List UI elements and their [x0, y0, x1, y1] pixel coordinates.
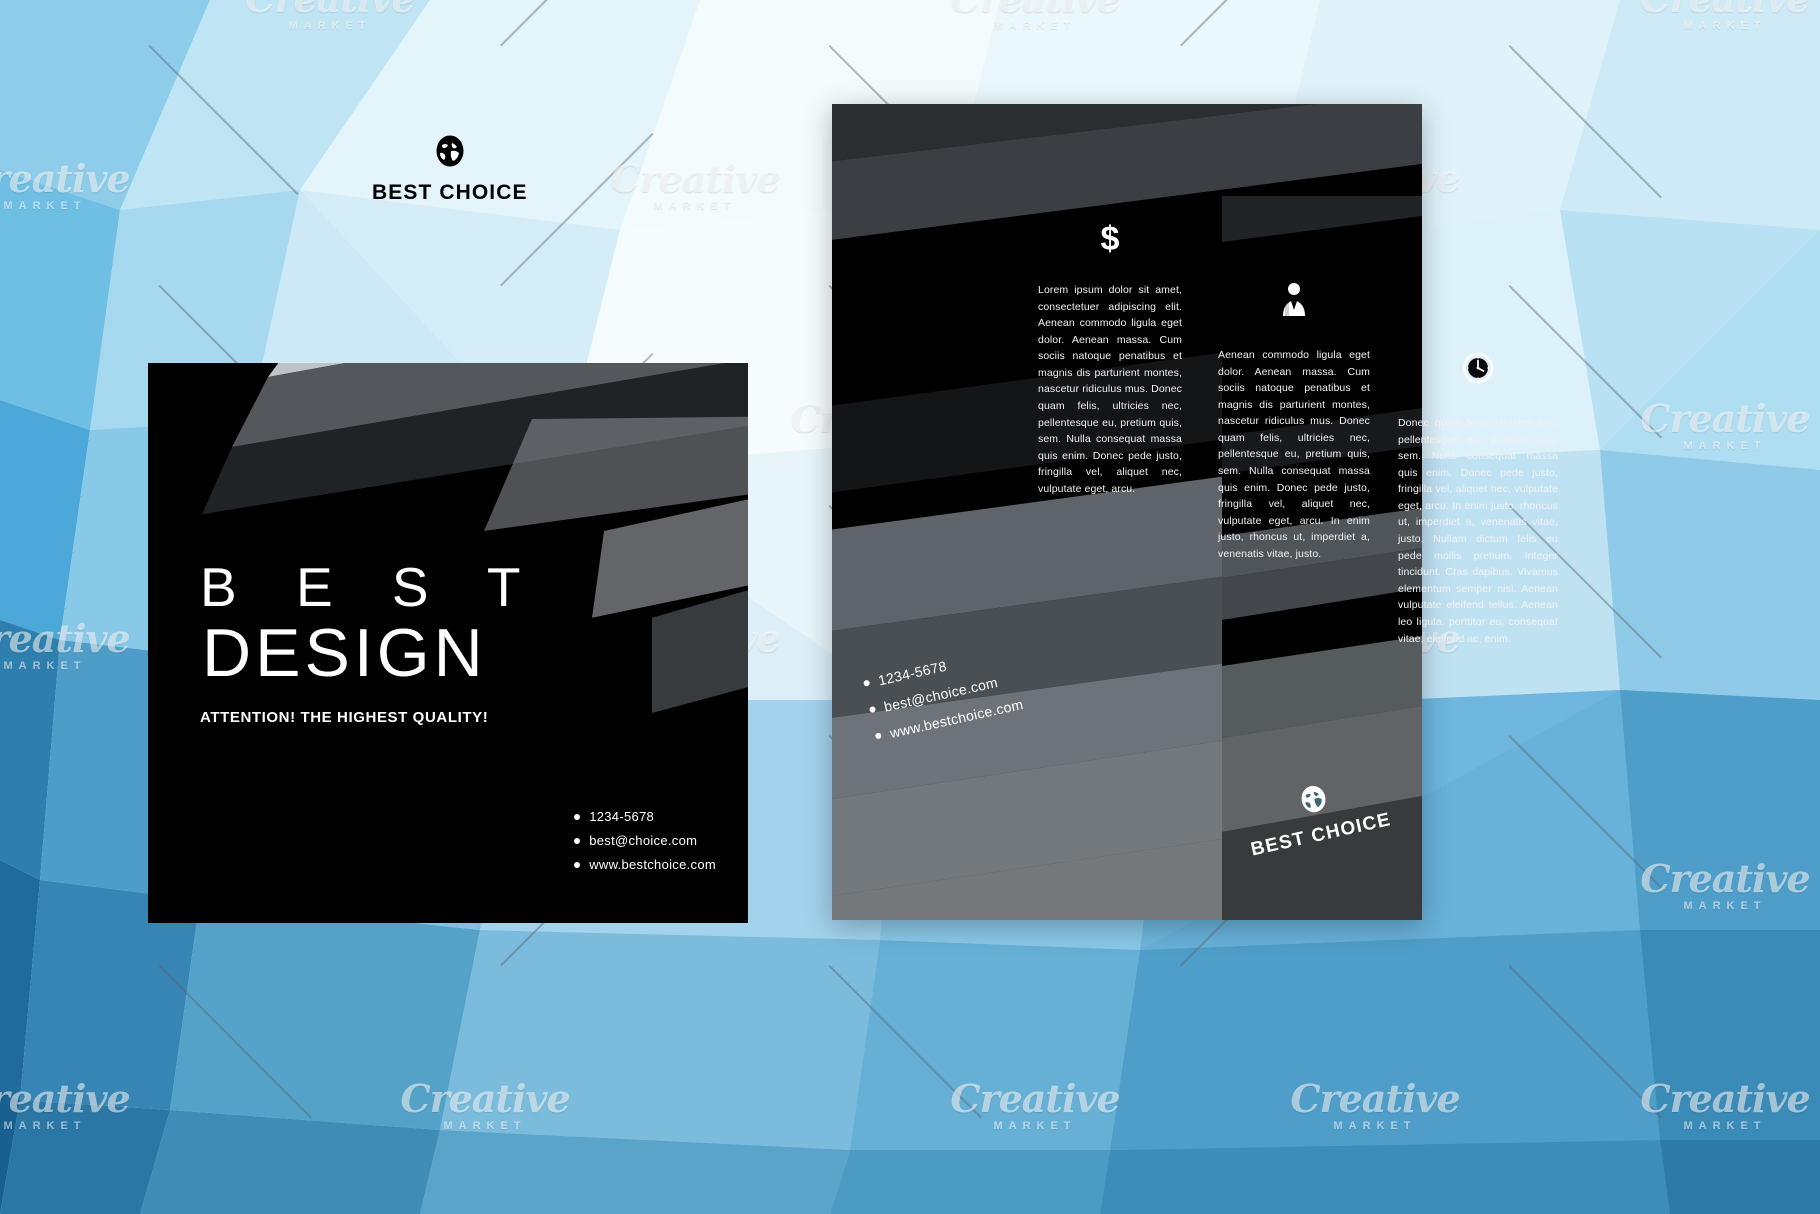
cover-title-block: B E S T DESIGN ATTENTION! THE HIGHEST QU… — [200, 559, 543, 726]
brand-logo-top: BEST CHOICE — [372, 134, 528, 205]
mockup-canvas: Creative MARKET Creative MARKET Creative… — [0, 0, 1820, 1214]
bullet-dot-icon — [574, 862, 580, 868]
contact-email: best@choice.com — [589, 833, 697, 848]
brochure-left-cover: B E S T DESIGN ATTENTION! THE HIGHEST QU… — [148, 363, 748, 923]
bullet-dot-icon — [574, 814, 580, 820]
column-pricing: $ Lorem ipsum dolor sit amet, consectetu… — [1038, 222, 1182, 498]
contact-row[interactable]: best@choice.com — [574, 833, 716, 848]
column-people: Aenean commodo ligula eget dolor. Aenean… — [1218, 282, 1370, 563]
clock-icon — [1398, 352, 1558, 389]
bullet-dot-icon — [875, 732, 882, 739]
globe-icon — [372, 134, 528, 173]
brand-name-label: BEST CHOICE — [372, 181, 528, 205]
headline-line-2: DESIGN — [202, 619, 543, 687]
contact-row[interactable]: www.bestchoice.com — [574, 857, 716, 872]
column-time: Donec quam felis, ultricies nec, pellent… — [1398, 352, 1558, 647]
column-body-text: Lorem ipsum dolor sit amet, consectetuer… — [1038, 282, 1182, 498]
cover-tagline: ATTENTION! THE HIGHEST QUALITY! — [200, 709, 543, 726]
contact-phone: 1234-5678 — [589, 809, 654, 824]
contact-website: www.bestchoice.com — [589, 857, 716, 872]
column-body-text: Aenean commodo ligula eget dolor. Aenean… — [1218, 347, 1370, 563]
contact-list-left: 1234-5678 best@choice.com www.bestchoice… — [574, 809, 716, 881]
bullet-dot-icon — [863, 680, 870, 687]
bullet-dot-icon — [574, 838, 580, 844]
dollar-icon: $ — [1038, 222, 1182, 256]
bullet-dot-icon — [869, 706, 876, 713]
contact-row[interactable]: 1234-5678 — [574, 809, 716, 824]
column-body-text: Donec quam felis, ultricies nec, pellent… — [1398, 415, 1558, 647]
businessman-icon — [1218, 282, 1370, 321]
headline-line-1: B E S T — [200, 559, 543, 617]
